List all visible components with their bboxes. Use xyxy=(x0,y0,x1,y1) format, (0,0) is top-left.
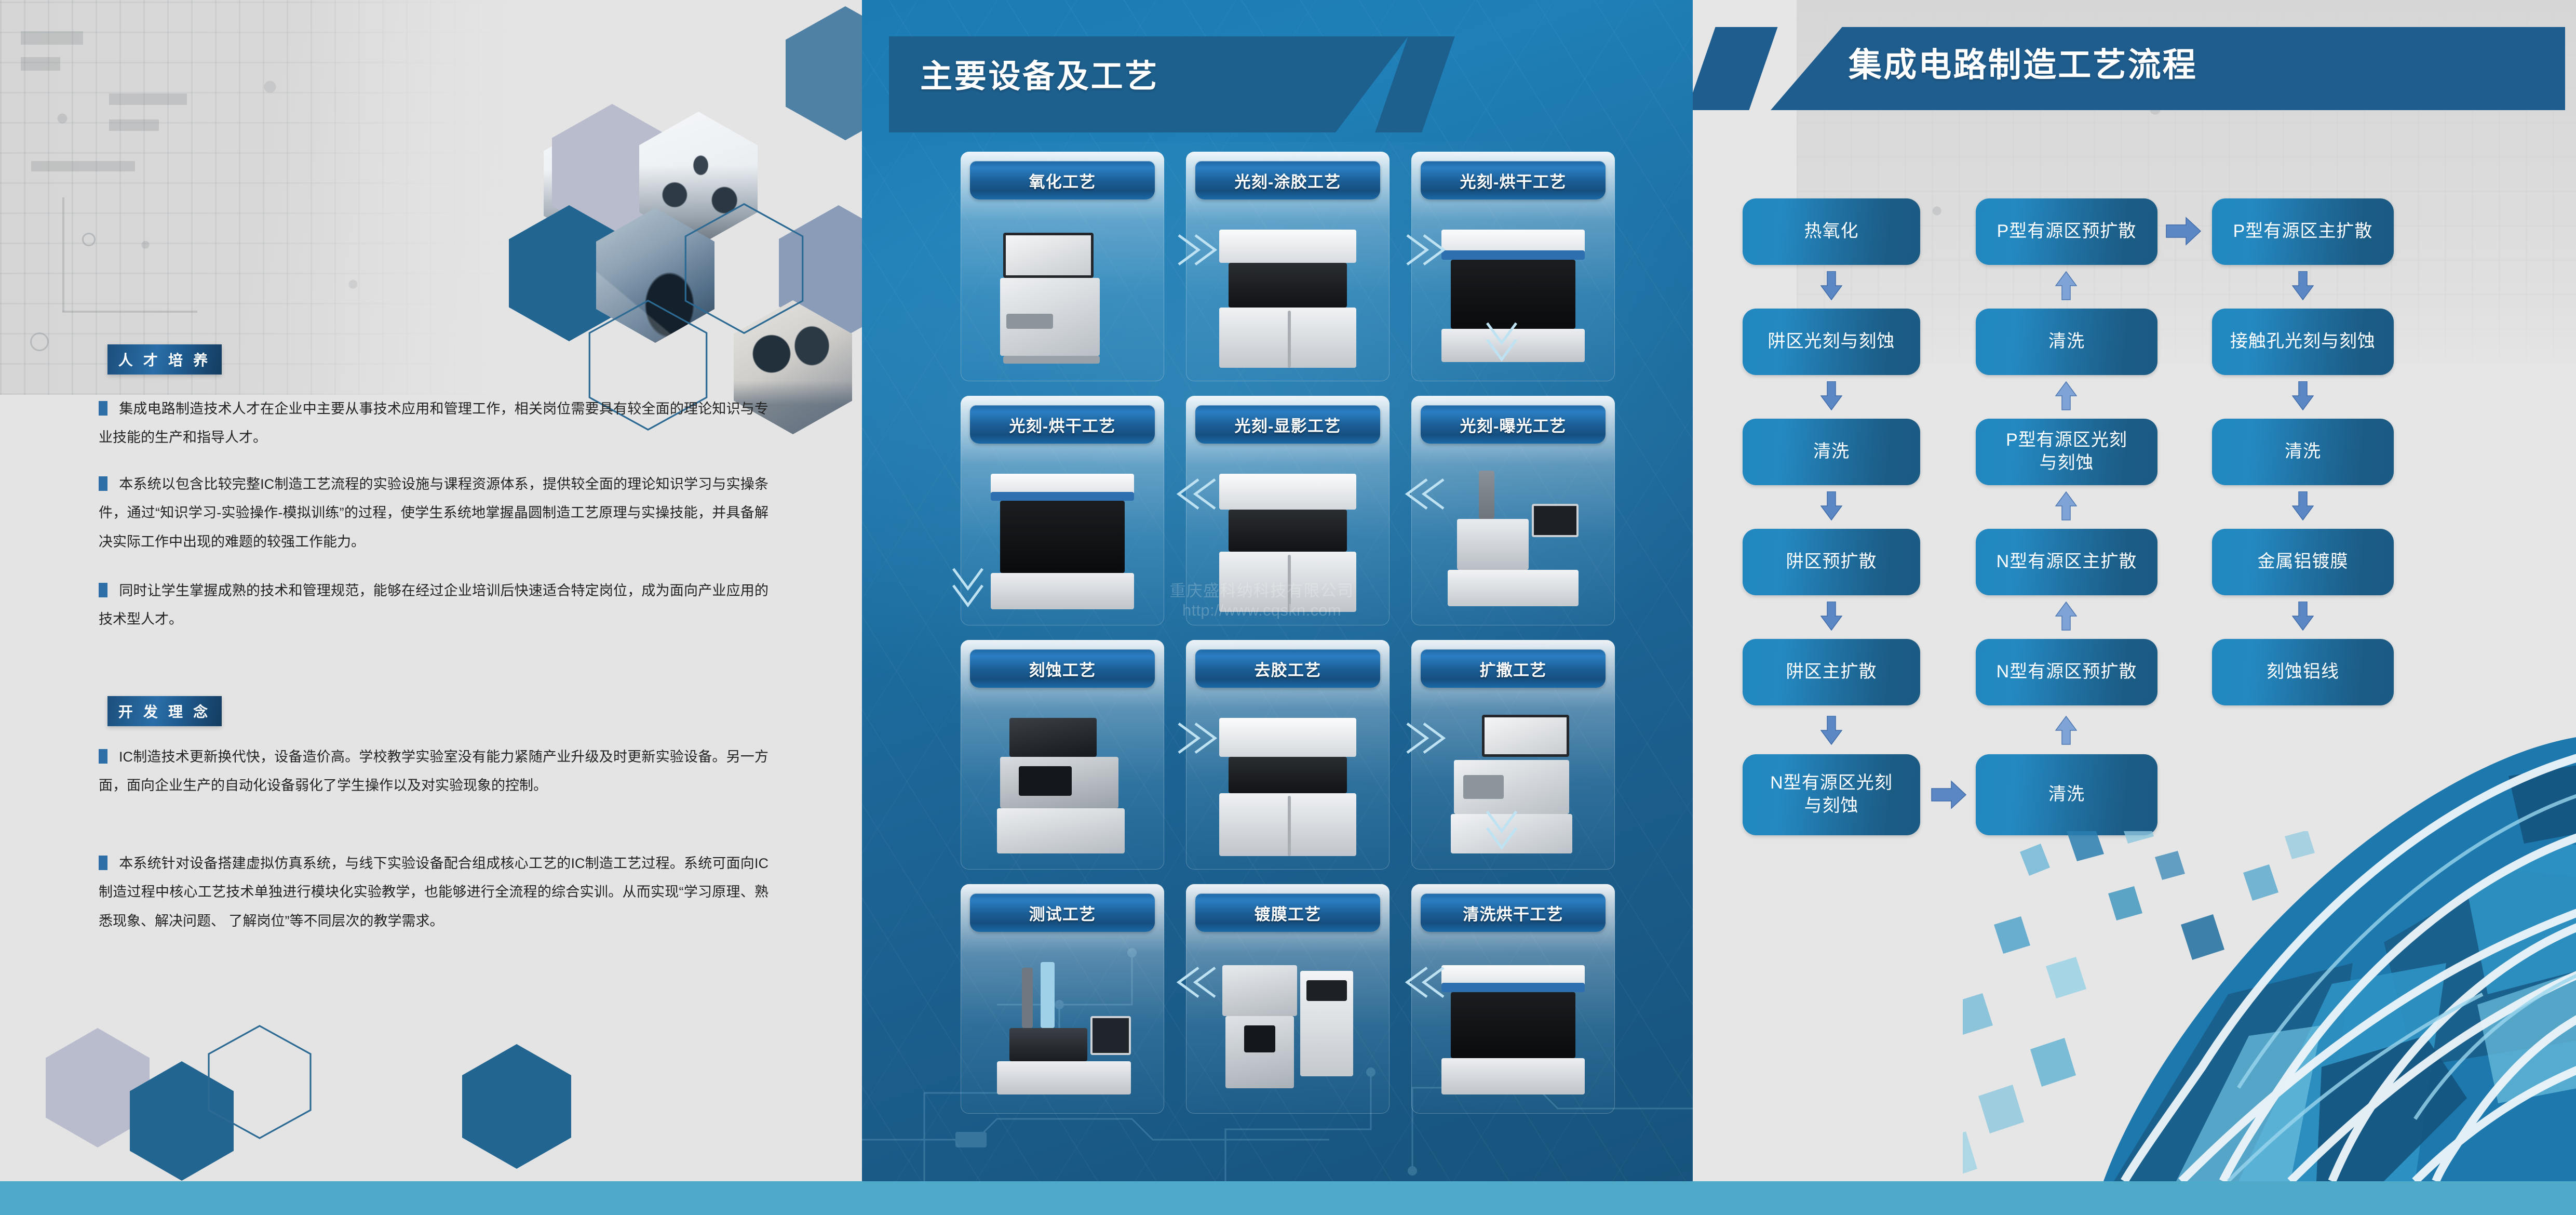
arrow-down-icon xyxy=(2292,491,2314,520)
equipment-label: 氧化工艺 xyxy=(970,161,1155,199)
flow-box[interactable]: 阱区光刻与刻蚀 xyxy=(1743,309,1920,375)
flow-box[interactable]: 阱区主扩散 xyxy=(1743,639,1920,705)
coater-hood-photo xyxy=(1195,207,1380,374)
chevron-right-icon xyxy=(1402,231,1449,269)
arrow-up-icon xyxy=(2055,381,2077,410)
equipment-label: 光刻-烘干工艺 xyxy=(1421,161,1606,199)
paragraph-talent-2: 本系统以包含比较完整IC制造工艺流程的实验设施与课程资源体系，提供较全面的理论知… xyxy=(99,470,768,556)
arrow-right-icon xyxy=(2165,216,2202,247)
developer-hood-photo xyxy=(1195,451,1380,618)
equipment-label: 测试工艺 xyxy=(970,893,1155,932)
equipment-label: 光刻-显影工艺 xyxy=(1195,405,1380,444)
circuit-trace xyxy=(62,197,64,312)
arrow-down-icon xyxy=(1820,602,1842,631)
bullet-square xyxy=(99,476,107,491)
equipment-label: 光刻-涂胶工艺 xyxy=(1195,161,1380,199)
chevron-down-icon xyxy=(1483,806,1520,853)
paragraph-text: 本系统针对设备搭建虚拟仿真系统，与线下实验设备配合组成核心工艺的IC制造工艺过程… xyxy=(99,856,768,929)
bullet-square xyxy=(99,856,107,870)
arrow-down-icon xyxy=(2292,381,2314,410)
flow-box[interactable]: N型有源区主扩散 xyxy=(1976,529,2157,595)
globe-lattice-decor xyxy=(1958,672,2576,1181)
hexagon-solid-blue xyxy=(786,6,862,140)
bullet-square xyxy=(99,401,107,416)
arrow-down-icon xyxy=(1820,491,1842,520)
paragraph-text: 集成电路制造技术人才在企业中主要从事技术应用和管理工作，相关岗位需要具有较全面的… xyxy=(99,401,768,445)
circuit-chip xyxy=(21,57,60,71)
flow-box[interactable]: 金属铝镀膜 xyxy=(2212,529,2394,595)
oxidation-furnace-photo xyxy=(970,207,1155,374)
circuit-chip xyxy=(31,161,135,171)
flow-box[interactable]: P型有源区主扩散 xyxy=(2212,198,2394,265)
equipment-label: 刻蚀工艺 xyxy=(970,649,1155,688)
equipment-label: 镀膜工艺 xyxy=(1195,893,1380,932)
flow-box[interactable]: 清洗 xyxy=(1743,419,1920,485)
etcher-photo xyxy=(970,695,1155,862)
center-footer-strip xyxy=(862,1181,1693,1215)
paragraph-talent-3: 同时让学生掌握成熟的技术和管理规范，能够在经过企业培训后快速适合特定岗位，成为面… xyxy=(99,577,768,634)
equipment-label: 清洗烘干工艺 xyxy=(1421,893,1606,932)
equipment-card[interactable]: 刻蚀工艺 xyxy=(961,640,1164,870)
arrow-up-icon xyxy=(2055,271,2077,300)
flow-box[interactable]: P型有源区光刻 与刻蚀 xyxy=(1976,419,2157,485)
paragraph-text: IC制造技术更新换代快，设备造价高。学校教学实验室没有能力紧随产业升级及时更新实… xyxy=(99,749,768,793)
chevron-left-icon xyxy=(1174,964,1220,1001)
section-badge-talent: 人 才 培 养 xyxy=(107,344,222,375)
circuit-chip xyxy=(21,31,83,45)
circuit-via xyxy=(30,332,49,351)
section-badge-concept: 开 发 理 念 xyxy=(107,696,222,726)
flow-box[interactable]: P型有源区预扩散 xyxy=(1976,198,2157,265)
hexagon-solid-deep-blue-bottom-2 xyxy=(462,1044,571,1169)
right-panel: 集成电路制造工艺流程 热氧化 阱区光刻与刻蚀 清洗 阱区预扩散 阱区主扩散 xyxy=(1693,0,2576,1181)
chevron-left-icon xyxy=(1174,475,1220,513)
arrow-down-icon xyxy=(2292,271,2314,300)
probe-station-photo xyxy=(970,939,1155,1106)
equipment-row: 光刻-烘干工艺 光刻-显影工艺 xyxy=(961,396,1615,625)
paragraph-text: 本系统以包含比较完整IC制造工艺流程的实验设施与课程资源体系，提供较全面的理论知… xyxy=(99,476,768,550)
paragraph-concept-2: 本系统针对设备搭建虚拟仿真系统，与线下实验设备配合组成核心工艺的IC制造工艺过程… xyxy=(99,849,768,936)
right-footer-strip xyxy=(1693,1181,2576,1215)
stripper-hood-photo xyxy=(1195,695,1380,862)
chevron-right-icon xyxy=(1174,719,1220,757)
left-panel: 人 才 培 养 集成电路制造技术人才在企业中主要从事技术应用和管理工作，相关岗位… xyxy=(0,0,862,1215)
chevron-down-icon xyxy=(1483,318,1520,365)
bake-oven-photo xyxy=(970,451,1155,618)
chevron-left-icon xyxy=(1402,475,1449,513)
equipment-card[interactable]: 氧化工艺 xyxy=(961,152,1164,381)
bullet-square xyxy=(99,583,107,597)
circuit-via xyxy=(82,233,96,246)
flow-box[interactable]: 清洗 xyxy=(2212,419,2394,485)
sputter-coater-photo xyxy=(1195,939,1380,1106)
center-title: 主要设备及工艺 xyxy=(920,50,1159,97)
flow-box[interactable]: 清洗 xyxy=(1976,309,2157,375)
circuit-trace xyxy=(62,311,197,313)
equipment-card[interactable]: 测试工艺 xyxy=(961,884,1164,1114)
arrow-down-icon xyxy=(2292,602,2314,631)
circuit-chip xyxy=(109,119,159,131)
equipment-label: 光刻-烘干工艺 xyxy=(970,405,1155,444)
chevron-right-icon xyxy=(1174,231,1220,269)
hexagon-outline-bottom xyxy=(208,1022,312,1142)
circuit-texture-top-left xyxy=(0,0,519,395)
arrow-up-icon xyxy=(2055,491,2077,520)
arrow-down-icon xyxy=(1820,381,1842,410)
equipment-card[interactable]: 光刻-烘干工艺 xyxy=(961,396,1164,625)
equipment-grid: 氧化工艺 光刻-涂胶工艺 xyxy=(961,152,1615,1128)
bullet-square xyxy=(99,749,107,764)
equipment-row: 测试工艺 镀膜工艺 xyxy=(961,884,1615,1114)
equipment-label: 光刻-曝光工艺 xyxy=(1421,405,1606,444)
arrow-up-icon xyxy=(2055,602,2077,631)
equipment-label: 扩撒工艺 xyxy=(1421,649,1606,688)
flow-box[interactable]: 阱区预扩散 xyxy=(1743,529,1920,595)
arrow-down-icon xyxy=(1820,716,1842,745)
paragraph-talent-1: 集成电路制造技术人才在企业中主要从事技术应用和管理工作，相关岗位需要具有较全面的… xyxy=(99,395,768,452)
center-panel: 主要设备及工艺 氧化工艺 光刻-涂胶 xyxy=(862,0,1693,1181)
poster-root: 人 才 培 养 集成电路制造技术人才在企业中主要从事技术应用和管理工作，相关岗位… xyxy=(0,0,2576,1215)
equipment-label: 去胶工艺 xyxy=(1195,649,1380,688)
paragraph-concept-1: IC制造技术更新换代快，设备造价高。学校教学实验室没有能力紧随产业升级及时更新实… xyxy=(99,743,768,800)
flow-box[interactable]: 接触孔光刻与刻蚀 xyxy=(2212,309,2394,375)
chevron-right-icon xyxy=(1402,719,1449,757)
circuit-chip xyxy=(109,94,187,105)
arrow-down-icon xyxy=(1820,271,1842,300)
flow-box[interactable]: 热氧化 xyxy=(1743,198,1920,265)
chevron-down-icon xyxy=(949,564,987,610)
chevron-left-icon xyxy=(1402,964,1449,1001)
paragraph-text: 同时让学生掌握成熟的技术和管理规范，能够在经过企业培训后快速适合特定岗位，成为面… xyxy=(99,583,768,627)
flow-box[interactable]: N型有源区光刻 与刻蚀 xyxy=(1743,754,1920,835)
